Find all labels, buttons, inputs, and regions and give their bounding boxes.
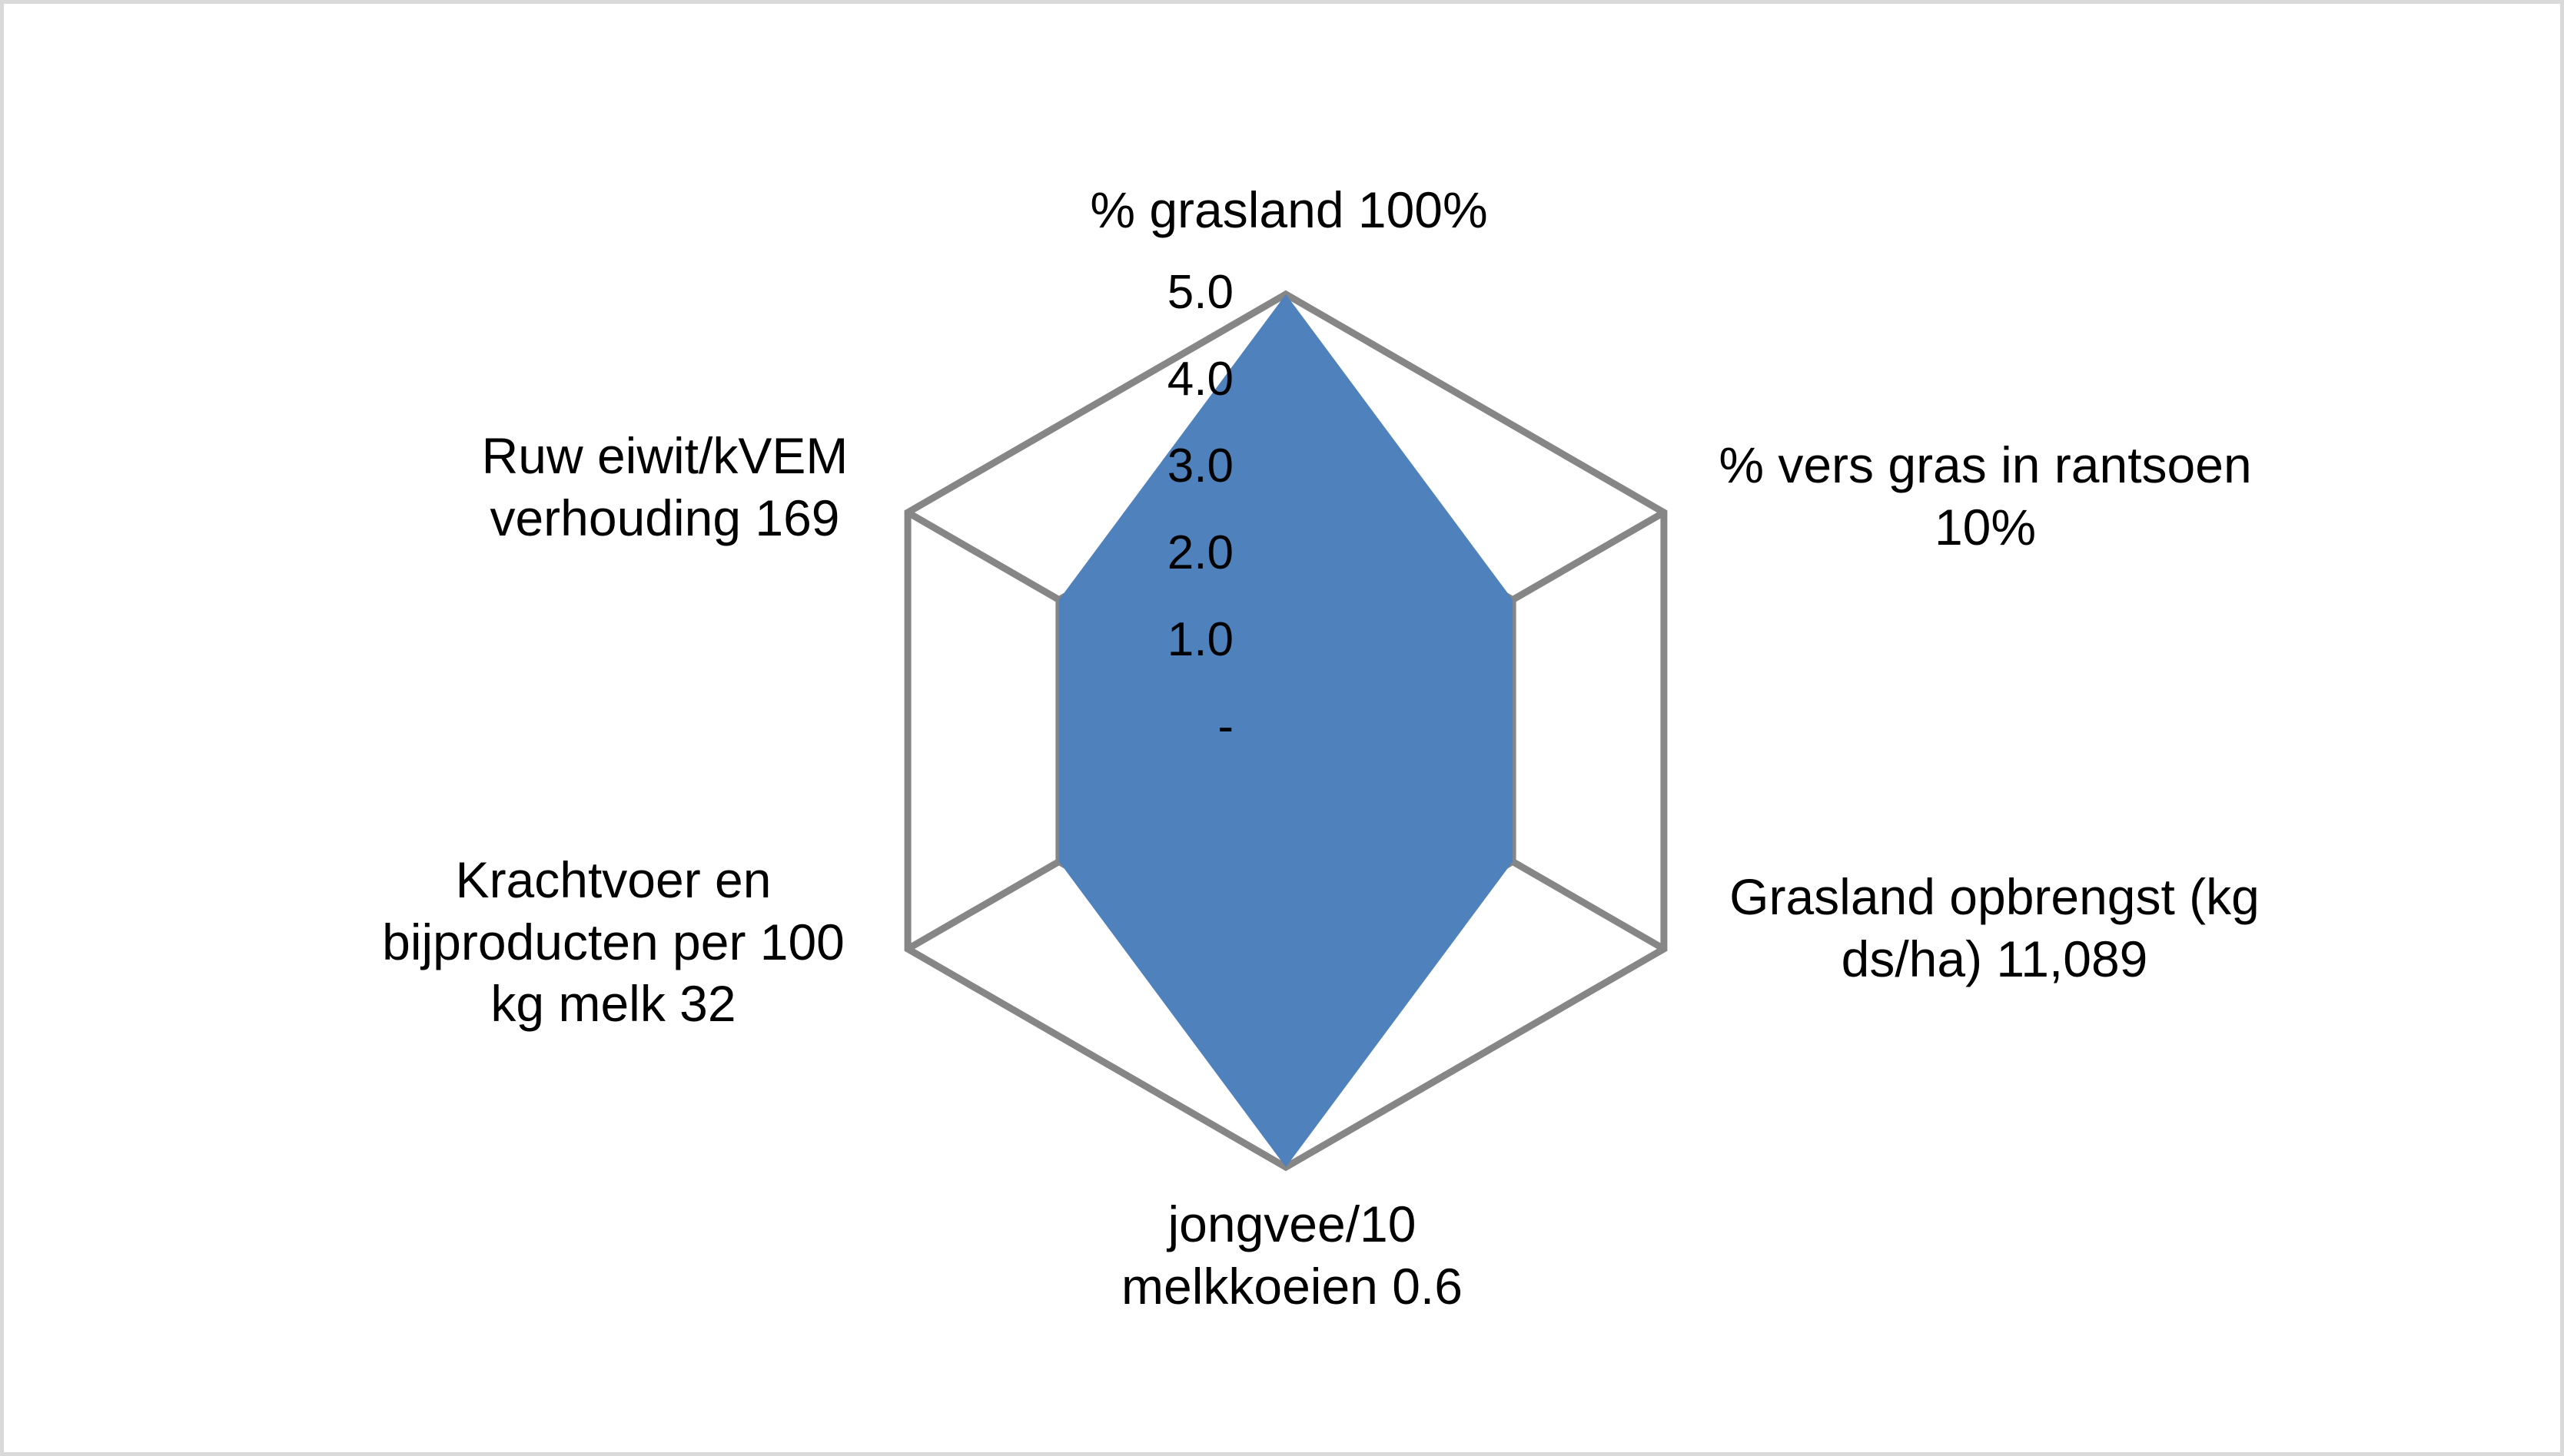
radial-tick-0: - — [1057, 703, 1234, 751]
radial-tick-3: 3.0 — [1057, 443, 1234, 490]
category-label-grasland: % grasland 100% — [951, 179, 1627, 241]
radial-tick-5: 5.0 — [1057, 269, 1234, 317]
category-label-ruw-eiwit: Ruw eiwit/kVEM verhouding 169 — [404, 425, 926, 549]
category-label-grasland-opbrengst: Grasland opbrengst (kg ds/ha) 11,089 — [1656, 866, 2333, 990]
category-label-vers-gras: % vers gras in rantsoen 10% — [1655, 434, 2316, 558]
category-label-jongvee: jongvee/10 melkkoeien 0.6 — [954, 1193, 1630, 1317]
chart-frame: 5.0 4.0 3.0 2.0 1.0 - % grasland 100% % … — [0, 0, 2564, 1456]
radial-tick-1: 1.0 — [1057, 616, 1234, 664]
radial-tick-4: 4.0 — [1057, 356, 1234, 403]
radial-tick-2: 2.0 — [1057, 529, 1234, 577]
category-label-krachtvoer: Krachtvoer en bijproducten per 100 kg me… — [310, 849, 917, 1035]
